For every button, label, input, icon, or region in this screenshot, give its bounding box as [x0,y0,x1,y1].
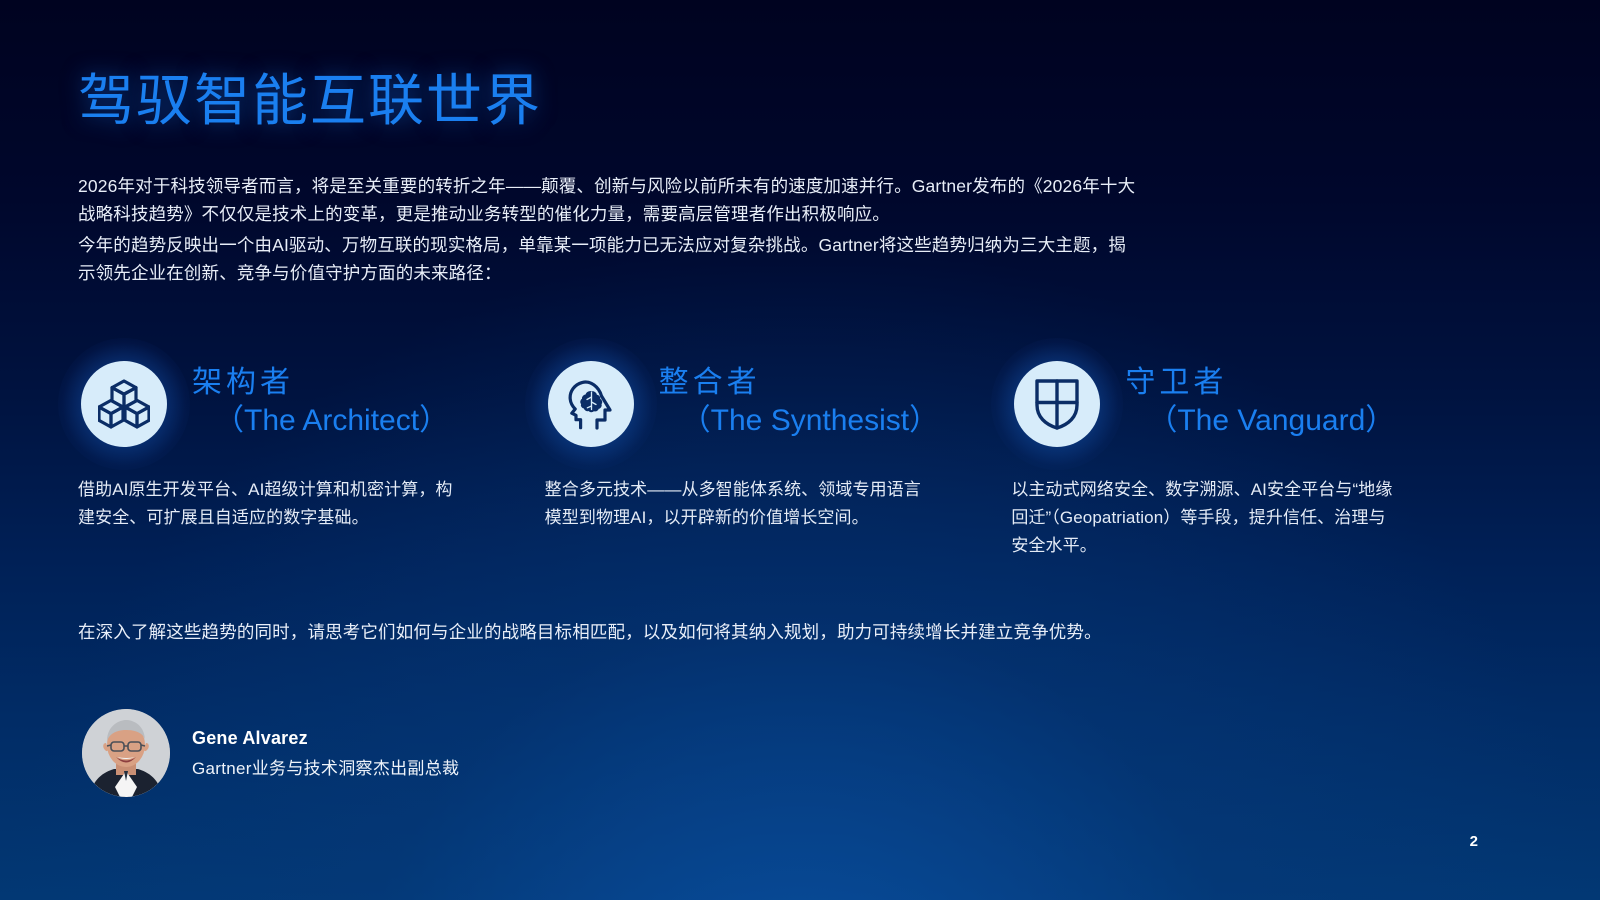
pillar-title-block: 守卫者 （The Vanguard） [1125,358,1395,441]
icon-wrap [1011,358,1103,450]
pillar-title-en: （The Vanguard） [1125,402,1395,440]
author-block: Gene Alvarez Gartner业务与技术洞察杰出副总裁 [82,709,459,797]
pillar-title-cn: 守卫者 [1125,364,1395,402]
pillar-architect: 架构者 （The Architect） 借助AI原生开发平台、AI超级计算和机密… [78,358,545,560]
pillar-header: 守卫者 （The Vanguard） [1011,358,1478,450]
avatar [82,709,170,797]
pillar-row: 架构者 （The Architect） 借助AI原生开发平台、AI超级计算和机密… [78,358,1478,560]
shield-icon [1014,361,1100,447]
pillar-title-block: 架构者 （The Architect） [192,358,449,441]
pillar-title-block: 整合者 （The Synthesist） [659,358,939,441]
closing-paragraph: 在深入了解这些趋势的同时，请思考它们如何与企业的战略目标相匹配，以及如何将其纳入… [78,618,1138,646]
pillar-synthesist: 整合者 （The Synthesist） 整合多元技术——从多智能体系统、领域专… [545,358,1012,560]
pillar-description: 以主动式网络安全、数字溯源、AI安全平台与“地缘回迁”（Geopatriatio… [1011,476,1401,560]
page-number: 2 [1470,833,1478,850]
pillar-vanguard: 守卫者 （The Vanguard） 以主动式网络安全、数字溯源、AI安全平台与… [1011,358,1478,560]
head-brain-icon [548,361,634,447]
icon-wrap [545,358,637,450]
icon-wrap [78,358,170,450]
slide: 驾驭智能互联世界 2026年对于科技领导者而言，将是至关重要的转折之年——颠覆、… [0,0,1600,900]
cubes-icon [81,361,167,447]
author-role: Gartner业务与技术洞察杰出副总裁 [192,754,459,779]
pillar-title-cn: 整合者 [659,364,939,402]
author-text: Gene Alvarez Gartner业务与技术洞察杰出副总裁 [192,728,459,779]
pillar-header: 架构者 （The Architect） [78,358,545,450]
pillar-title-cn: 架构者 [192,364,449,402]
intro-paragraph-2: 今年的趋势反映出一个由AI驱动、万物互联的现实格局，单靠某一项能力已无法应对复杂… [78,231,1138,288]
pillar-title-en: （The Synthesist） [659,402,939,440]
pillar-description: 整合多元技术——从多智能体系统、领域专用语言模型到物理AI，以开辟新的价值增长空… [545,476,935,532]
pillar-description: 借助AI原生开发平台、AI超级计算和机密计算，构建安全、可扩展且自适应的数字基础… [78,476,468,532]
pillar-header: 整合者 （The Synthesist） [545,358,1012,450]
intro-paragraph-1: 2026年对于科技领导者而言，将是至关重要的转折之年——颠覆、创新与风险以前所未… [78,172,1138,229]
page-title: 驾驭智能互联世界 [78,72,542,132]
pillar-title-en: （The Architect） [192,402,449,440]
author-name: Gene Alvarez [192,728,459,749]
